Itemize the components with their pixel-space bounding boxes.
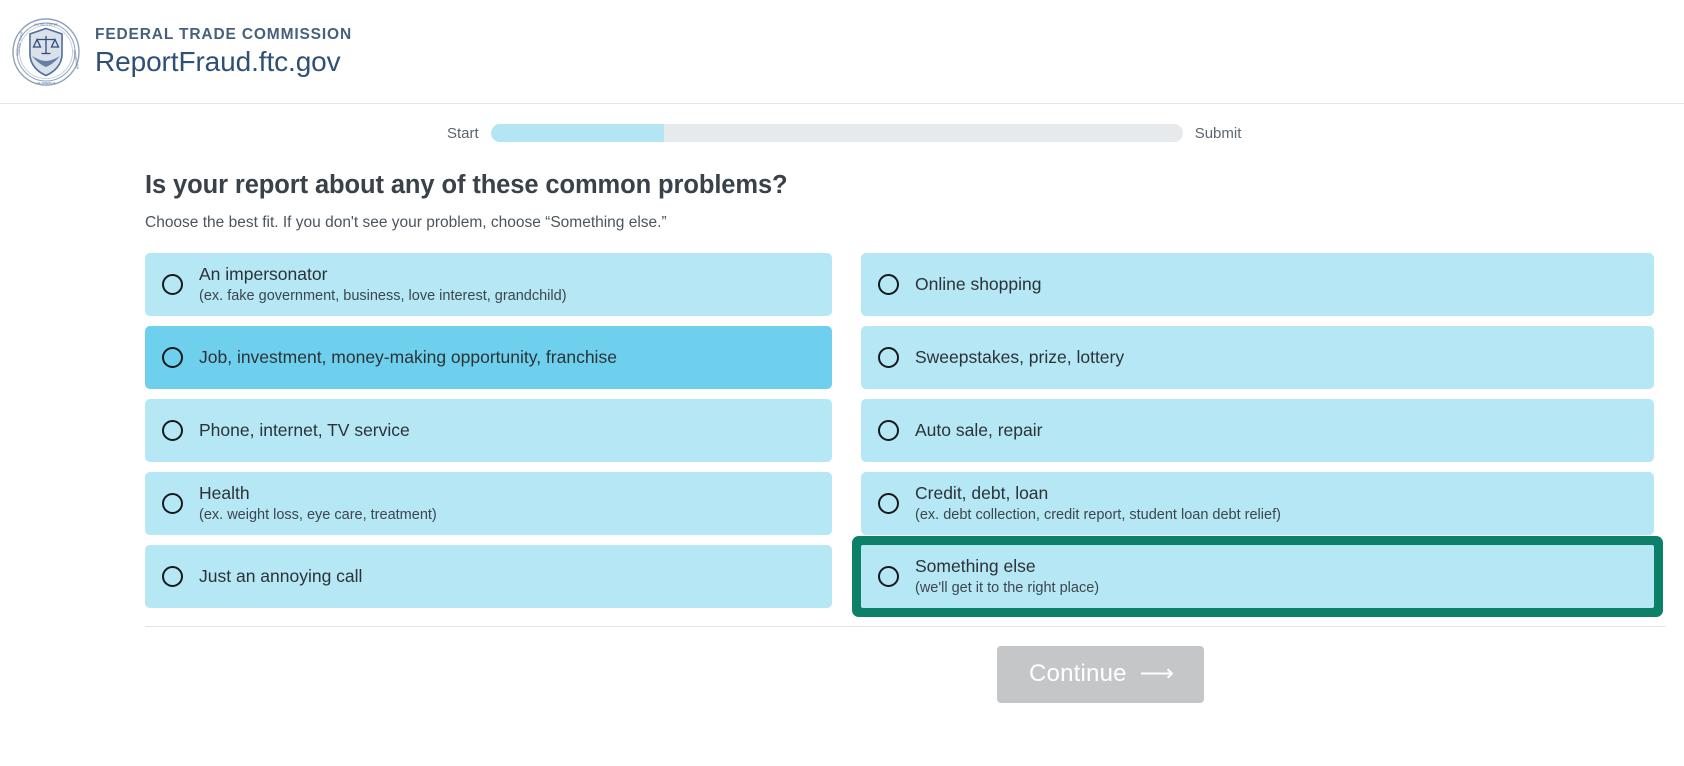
agency-name: FEDERAL TRADE COMMISSION [95,25,352,44]
option-an-impersonator[interactable]: An impersonator(ex. fake government, bus… [145,253,832,316]
option-online-shopping[interactable]: Online shopping [861,253,1654,316]
option-job-investment-money-making-opportunity-franchise[interactable]: Job, investment, money-making opportunit… [145,326,832,389]
continue-button-label: Continue [1029,660,1127,688]
main-content: Is your report about any of these common… [0,171,1684,703]
page-subtitle: Choose the best fit. If you don't see yo… [145,214,1654,232]
progress-submit-label: Submit [1195,125,1242,142]
ftc-seal-icon: UNITED STATES OF AMERICA FEDERAL TRADE C… [10,16,82,88]
svg-text:OF AMERICA: OF AMERICA [36,81,56,85]
radio-icon[interactable] [162,566,183,587]
option-label: Sweepstakes, prize, lottery [915,346,1124,368]
progress-fill [491,124,664,142]
radio-icon[interactable] [878,566,899,587]
option-label: Just an annoying call [199,565,362,587]
radio-icon[interactable] [878,493,899,514]
options-column-right: Online shoppingSweepstakes, prize, lotte… [861,253,1654,618]
svg-text:UNITED STATES: UNITED STATES [34,22,58,26]
option-label: Phone, internet, TV service [199,419,410,441]
radio-icon[interactable] [162,274,183,295]
option-text: Something else(we'll get it to the right… [915,555,1099,598]
option-text: Auto sale, repair [915,419,1042,441]
option-text: Phone, internet, TV service [199,419,410,441]
page-title: Is your report about any of these common… [145,171,1654,200]
option-label: Health [199,482,437,504]
option-credit-debt-loan[interactable]: Credit, debt, loan(ex. debt collection, … [861,472,1654,535]
radio-icon[interactable] [162,420,183,441]
section-divider [145,626,1666,627]
option-label: Credit, debt, loan [915,482,1281,504]
radio-icon[interactable] [878,420,899,441]
option-label: Job, investment, money-making opportunit… [199,346,617,368]
option-text: An impersonator(ex. fake government, bus… [199,263,567,306]
option-hint: (ex. debt collection, credit report, stu… [915,506,1281,525]
radio-icon[interactable] [162,347,183,368]
option-text: Job, investment, money-making opportunit… [199,346,617,368]
form-actions: Continue ⟶ [145,646,1654,703]
option-health[interactable]: Health(ex. weight loss, eye care, treatm… [145,472,832,535]
continue-button[interactable]: Continue ⟶ [997,646,1204,703]
option-just-an-annoying-call[interactable]: Just an annoying call [145,545,832,608]
progress-start-label: Start [447,125,479,142]
site-header: UNITED STATES OF AMERICA FEDERAL TRADE C… [0,0,1684,104]
radio-icon[interactable] [878,347,899,368]
option-text: Health(ex. weight loss, eye care, treatm… [199,482,437,525]
radio-icon[interactable] [162,493,183,514]
option-label: Online shopping [915,273,1041,295]
option-hint: (ex. fake government, business, love int… [199,287,567,306]
option-text: Just an annoying call [199,565,362,587]
site-title: ReportFraud.ftc.gov [95,46,352,78]
option-text: Credit, debt, loan(ex. debt collection, … [915,482,1281,525]
options-column-left: An impersonator(ex. fake government, bus… [145,253,832,618]
option-hint: (we'll get it to the right place) [915,579,1099,598]
option-label: Auto sale, repair [915,419,1042,441]
option-auto-sale-repair[interactable]: Auto sale, repair [861,399,1654,462]
problem-options-grid: An impersonator(ex. fake government, bus… [145,253,1654,618]
arrow-right-icon: ⟶ [1140,662,1175,686]
option-hint: (ex. weight loss, eye care, treatment) [199,506,437,525]
option-label: An impersonator [199,263,567,285]
option-text: Online shopping [915,273,1041,295]
option-sweepstakes-prize-lottery[interactable]: Sweepstakes, prize, lottery [861,326,1654,389]
brand-lockup: FEDERAL TRADE COMMISSION ReportFraud.ftc… [95,25,352,79]
option-something-else[interactable]: Something else(we'll get it to the right… [861,545,1654,608]
option-phone-internet-tv-service[interactable]: Phone, internet, TV service [145,399,832,462]
option-label: Something else [915,555,1099,577]
option-text: Sweepstakes, prize, lottery [915,346,1124,368]
progress-indicator: Start Submit [0,124,1684,142]
radio-icon[interactable] [878,274,899,295]
progress-track [491,124,1183,142]
